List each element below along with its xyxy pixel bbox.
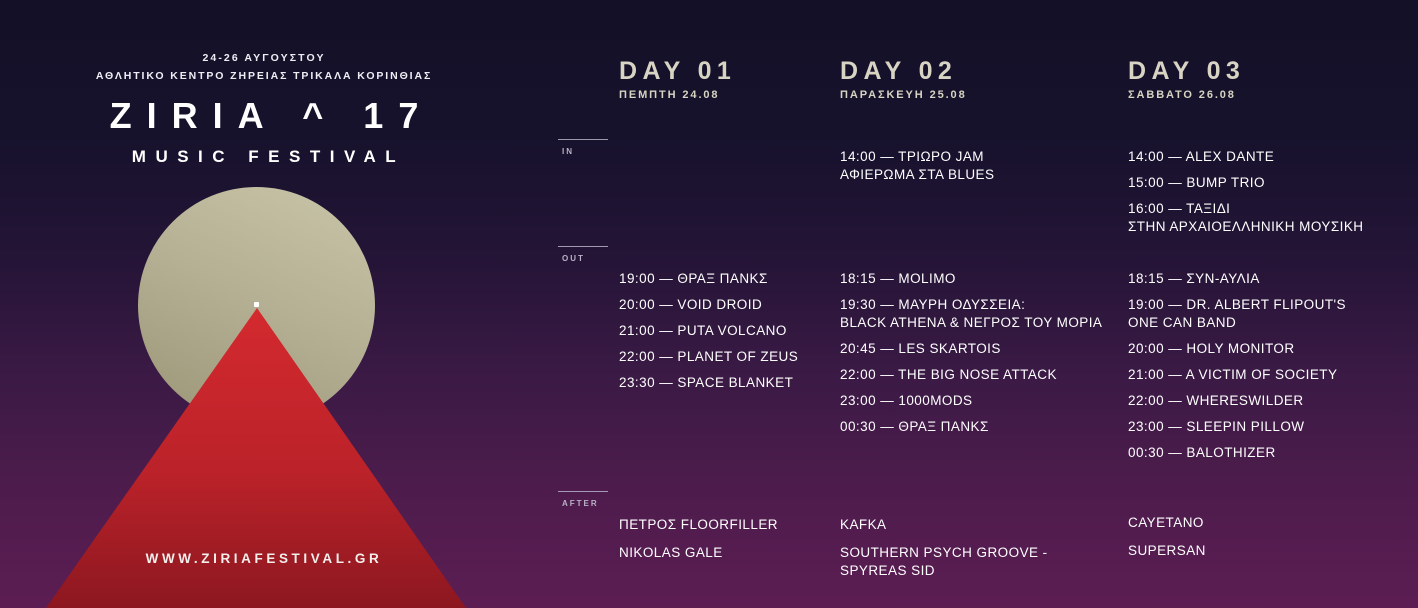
schedule-entry: 16:00 — ΤΑΞΙΔΙ ΣΤΗΝ ΑΡΧΑΙΟΕΛΛΗΝΙΚΗ ΜΟΥΣΙ…	[1128, 200, 1408, 236]
day-title-2: DAY 02	[840, 58, 967, 84]
schedule-entry: 00:30 — ΘΡΑΞ ΠΑΝΚΣ	[840, 418, 1120, 436]
schedule-entry: CAYETANO	[1128, 514, 1413, 532]
schedule-entry: 22:00 — PLANET OF ZEUS	[619, 348, 834, 366]
schedule-entry: 20:00 — HOLY MONITOR	[1128, 340, 1413, 358]
schedule-entry: 21:00 — A VICTIM OF SOCIETY	[1128, 366, 1413, 384]
day-2-in-entries: 14:00 — ΤΡΙΩΡΟ JAM ΑΦΙΕΡΩΜΑ ΣΤΑ BLUES	[840, 148, 1115, 192]
day-date-1: ΠΕΜΠΤΗ 24.08	[619, 89, 736, 101]
row-label-after-text: AFTER	[562, 499, 618, 508]
schedule-entry: 20:45 — LES SKARTOIS	[840, 340, 1120, 358]
row-divider-out	[558, 246, 608, 247]
row-label-out: OUT	[558, 246, 618, 263]
day-header-3: DAY 03 ΣΑΒΒΑΤΟ 26.08	[1128, 58, 1245, 101]
day-1-out-entries: 19:00 — ΘΡΑΞ ΠΑΝΚΣ20:00 — VOID DROID21:0…	[619, 270, 834, 400]
schedule-entry: 18:15 — MOLIMO	[840, 270, 1120, 288]
day-3-in-entries: 14:00 — ALEX DANTE15:00 — BUMP TRIO16:00…	[1128, 148, 1408, 244]
row-label-after: AFTER	[558, 491, 618, 508]
schedule-entry: 14:00 — ΤΡΙΩΡΟ JAM ΑΦΙΕΡΩΜΑ ΣΤΑ BLUES	[840, 148, 1115, 184]
schedule-grid: IN OUT AFTER DAY 01 ΠΕΜΠΤΗ 24.08 19:00 —…	[0, 0, 1418, 608]
row-label-in: IN	[558, 139, 618, 156]
schedule-entry: 23:30 — SPACE BLANKET	[619, 374, 834, 392]
festival-poster: WWW.ZIRIAFESTIVAL.GR 24-26 ΑΥΓΟΥΣΤΟΥ ΑΘΛ…	[0, 0, 1418, 608]
day-3-after-entries: CAYETANOSUPERSAN	[1128, 514, 1413, 570]
row-divider-after	[558, 491, 608, 492]
schedule-entry: NIKOLAS GALE	[619, 544, 834, 562]
schedule-entry: 19:00 — ΘΡΑΞ ΠΑΝΚΣ	[619, 270, 834, 288]
schedule-entry: SOUTHERN PSYCH GROOVE - SPYREAS SID	[840, 544, 1120, 580]
day-header-2: DAY 02 ΠΑΡΑΣΚΕΥΗ 25.08	[840, 58, 967, 101]
day-title-1: DAY 01	[619, 58, 736, 84]
schedule-entry: 00:30 — BALOTHIZER	[1128, 444, 1413, 462]
schedule-entry: 15:00 — BUMP TRIO	[1128, 174, 1408, 192]
row-divider-in	[558, 139, 608, 140]
schedule-entry: 19:30 — ΜΑΥΡΗ ΟΔΥΣΣΕΙΑ: BLACK ATHENA & Ν…	[840, 296, 1120, 332]
schedule-entry: 23:00 — 1000MODS	[840, 392, 1120, 410]
schedule-entry: 21:00 — PUTA VOLCANO	[619, 322, 834, 340]
day-date-2: ΠΑΡΑΣΚΕΥΗ 25.08	[840, 89, 967, 101]
schedule-entry: SUPERSAN	[1128, 542, 1413, 560]
schedule-entry: 19:00 — DR. ALBERT FLIPOUT'S ONE CAN BAN…	[1128, 296, 1413, 332]
day-1-after-entries: ΠΕΤΡΟΣ FLOORFILLERNIKOLAS GALE	[619, 516, 834, 572]
schedule-entry: 18:15 — ΣΥΝ-ΑΥΛΙΑ	[1128, 270, 1413, 288]
schedule-entry: 20:00 — VOID DROID	[619, 296, 834, 314]
day-2-after-entries: KAFKASOUTHERN PSYCH GROOVE - SPYREAS SID	[840, 516, 1120, 590]
schedule-entry: KAFKA	[840, 516, 1120, 534]
day-3-out-entries: 18:15 — ΣΥΝ-ΑΥΛΙΑ19:00 — DR. ALBERT FLIP…	[1128, 270, 1413, 470]
schedule-entry: 22:00 — WHERESWILDER	[1128, 392, 1413, 410]
day-header-1: DAY 01 ΠΕΜΠΤΗ 24.08	[619, 58, 736, 101]
schedule-entry: ΠΕΤΡΟΣ FLOORFILLER	[619, 516, 834, 534]
row-label-in-text: IN	[562, 147, 618, 156]
row-label-out-text: OUT	[562, 254, 618, 263]
day-2-out-entries: 18:15 — MOLIMO19:30 — ΜΑΥΡΗ ΟΔΥΣΣΕΙΑ: BL…	[840, 270, 1120, 444]
schedule-entry: 14:00 — ALEX DANTE	[1128, 148, 1408, 166]
schedule-entry: 23:00 — SLEEPIN PILLOW	[1128, 418, 1413, 436]
day-title-3: DAY 03	[1128, 58, 1245, 84]
schedule-entry: 22:00 — THE BIG NOSE ATTACK	[840, 366, 1120, 384]
day-date-3: ΣΑΒΒΑΤΟ 26.08	[1128, 89, 1245, 101]
